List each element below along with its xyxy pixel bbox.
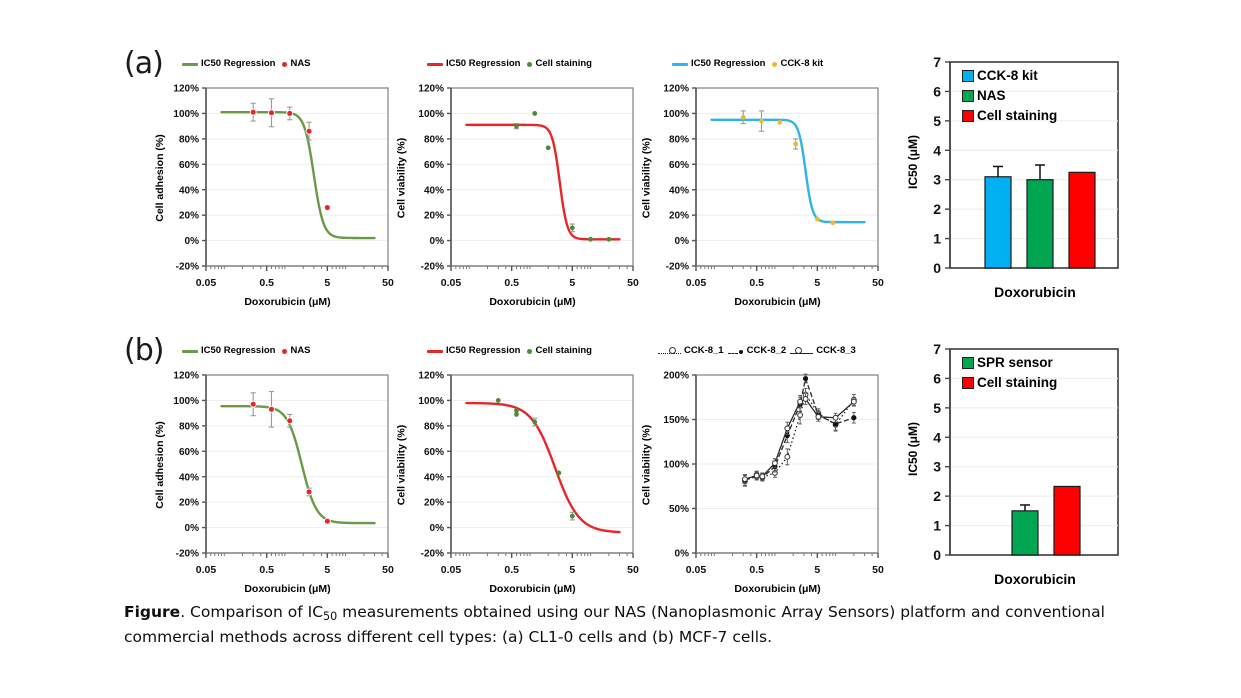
y-tick-label: -20% bbox=[421, 549, 444, 560]
y-tick-label: 6 bbox=[933, 83, 941, 99]
chart-svg: -20%0%20%40%60%80%100%120%0.050.5550 bbox=[160, 64, 410, 296]
y-tick-label: 20% bbox=[179, 211, 199, 222]
x-axis-title: Doxorubicin (μM) bbox=[180, 583, 395, 595]
y-tick-label: 40% bbox=[669, 185, 689, 196]
y-tick-label: 200% bbox=[663, 371, 689, 382]
legend-item[interactable]: NAS bbox=[962, 88, 1057, 103]
y-tick-label: 40% bbox=[179, 185, 199, 196]
y-tick-label: 4 bbox=[933, 142, 941, 158]
data-point bbox=[556, 471, 561, 476]
legend-item[interactable]: SPR sensor bbox=[962, 355, 1057, 370]
y-tick-label: 80% bbox=[669, 134, 689, 145]
y-tick-label: 80% bbox=[424, 134, 444, 145]
data-point bbox=[798, 413, 803, 418]
legend-item[interactable]: Cell staining bbox=[962, 108, 1057, 123]
y-tick-label: -20% bbox=[176, 549, 199, 560]
chart-panel-a2: IC50 RegressionCell stainingCell viabili… bbox=[405, 48, 655, 308]
y-tick-label: 5 bbox=[933, 113, 941, 129]
chart-panel-a3: IC50 RegressionCCK-8 kitCell viability (… bbox=[650, 48, 900, 308]
y-tick-label: -20% bbox=[666, 262, 689, 273]
x-tick-label: 5 bbox=[569, 277, 575, 289]
data-point bbox=[777, 120, 782, 125]
x-axis-title: Doxorubicin (μM) bbox=[425, 296, 640, 308]
bar-cell-staining bbox=[1069, 172, 1095, 268]
data-point bbox=[785, 454, 790, 459]
y-tick-label: 60% bbox=[179, 160, 199, 171]
caption-lead: Figure bbox=[124, 603, 180, 621]
legend-label: NAS bbox=[977, 88, 1006, 103]
x-tick-label: 0.5 bbox=[504, 277, 519, 289]
data-point bbox=[760, 474, 765, 479]
data-point bbox=[851, 415, 856, 420]
x-tick-label: 0.05 bbox=[686, 564, 707, 576]
y-tick-label: 1 bbox=[933, 518, 941, 534]
y-tick-label: 0% bbox=[675, 236, 690, 247]
y-tick-label: 0% bbox=[430, 523, 445, 534]
data-point bbox=[570, 514, 575, 519]
y-tick-label: 100% bbox=[173, 396, 199, 407]
x-tick-label: 50 bbox=[627, 277, 639, 289]
y-tick-label: 4 bbox=[933, 429, 941, 445]
data-point bbox=[287, 418, 293, 424]
x-tick-label: 50 bbox=[627, 564, 639, 576]
y-tick-label: 20% bbox=[424, 211, 444, 222]
panel-label-a: (a) bbox=[124, 46, 163, 81]
x-tick-label: 0.05 bbox=[441, 277, 462, 289]
x-tick-label: 50 bbox=[872, 564, 884, 576]
x-tick-label: 50 bbox=[382, 277, 394, 289]
y-tick-label: 120% bbox=[173, 84, 199, 95]
bar-nas bbox=[1027, 180, 1053, 268]
x-tick-label: 0.05 bbox=[196, 564, 217, 576]
x-tick-label: 0.05 bbox=[441, 564, 462, 576]
y-tick-label: 120% bbox=[663, 84, 689, 95]
data-point bbox=[268, 110, 274, 116]
data-point bbox=[815, 217, 820, 222]
legend-item[interactable]: CCK-8 kit bbox=[962, 68, 1057, 83]
data-point bbox=[306, 489, 312, 495]
y-tick-label: 100% bbox=[418, 109, 444, 120]
x-tick-label: 5 bbox=[324, 277, 330, 289]
data-point bbox=[851, 399, 856, 404]
regression-curve bbox=[466, 125, 619, 239]
data-point bbox=[570, 225, 575, 230]
y-tick-label: 120% bbox=[418, 371, 444, 382]
y-tick-label: 80% bbox=[424, 421, 444, 432]
data-point bbox=[324, 205, 330, 211]
data-point bbox=[785, 426, 790, 431]
legend-color-swatch-icon bbox=[962, 70, 974, 82]
chart-svg: -20%0%20%40%60%80%100%120%0.050.5550 bbox=[160, 351, 410, 583]
data-point bbox=[606, 237, 611, 242]
y-tick-label: 20% bbox=[179, 498, 199, 509]
data-point bbox=[268, 406, 274, 412]
y-tick-label: 7 bbox=[933, 341, 941, 357]
y-tick-label: 50% bbox=[669, 504, 689, 515]
data-point bbox=[830, 220, 835, 225]
x-tick-label: 5 bbox=[569, 564, 575, 576]
legend-label: SPR sensor bbox=[977, 355, 1053, 370]
y-tick-label: 0 bbox=[933, 260, 941, 276]
x-axis-title: Doxorubicin bbox=[940, 284, 1130, 300]
regression-curve bbox=[221, 112, 374, 238]
regression-curve bbox=[466, 403, 619, 532]
bar-cck-8-kit bbox=[985, 177, 1011, 268]
y-tick-label: 60% bbox=[424, 447, 444, 458]
y-tick-label: 5 bbox=[933, 400, 941, 416]
y-tick-label: 100% bbox=[173, 109, 199, 120]
x-tick-label: 0.5 bbox=[749, 564, 764, 576]
data-point bbox=[798, 399, 803, 404]
legend-item[interactable]: Cell staining bbox=[962, 375, 1057, 390]
y-tick-label: 40% bbox=[179, 472, 199, 483]
y-tick-label: 3 bbox=[933, 172, 941, 188]
y-tick-label: -20% bbox=[176, 262, 199, 273]
chart-panel-b4: IC50 (μM)Doxorubicin01234567SPR sensorCe… bbox=[910, 329, 1160, 591]
y-tick-label: 0% bbox=[185, 236, 200, 247]
x-tick-label: 0.5 bbox=[259, 277, 274, 289]
panel-label-b: (b) bbox=[124, 333, 163, 368]
x-axis-title: Doxorubicin (μM) bbox=[670, 296, 885, 308]
y-tick-label: 0% bbox=[675, 549, 690, 560]
data-point bbox=[532, 111, 537, 116]
y-tick-label: 80% bbox=[179, 421, 199, 432]
y-tick-label: 20% bbox=[424, 498, 444, 509]
data-point bbox=[816, 414, 821, 419]
data-point bbox=[496, 398, 501, 403]
x-axis-title: Doxorubicin (μM) bbox=[180, 296, 395, 308]
y-tick-label: 100% bbox=[418, 396, 444, 407]
data-point bbox=[754, 473, 759, 478]
data-point bbox=[546, 145, 551, 150]
data-point bbox=[743, 477, 748, 482]
chart-svg: -20%0%20%40%60%80%100%120%0.050.5550 bbox=[650, 64, 900, 296]
y-tick-label: 40% bbox=[424, 185, 444, 196]
legend-label: CCK-8 kit bbox=[977, 68, 1038, 83]
y-tick-label: 80% bbox=[179, 134, 199, 145]
x-axis-title: Doxorubicin bbox=[940, 571, 1130, 587]
data-point bbox=[287, 110, 293, 116]
data-point bbox=[741, 115, 746, 120]
y-tick-label: -20% bbox=[421, 262, 444, 273]
figure-row-b: (b) IC50 RegressionNASCell adhesion (%)D… bbox=[0, 325, 1241, 595]
chart-panel-a1: IC50 RegressionNASCell adhesion (%)Doxor… bbox=[160, 48, 410, 308]
y-tick-label: 120% bbox=[418, 84, 444, 95]
y-tick-label: 0% bbox=[185, 523, 200, 534]
data-point bbox=[324, 518, 330, 524]
y-tick-label: 2 bbox=[933, 488, 941, 504]
caption-subscript: 50 bbox=[323, 610, 337, 623]
legend-color-swatch-icon bbox=[962, 357, 974, 369]
chart-svg: -20%0%20%40%60%80%100%120%0.050.5550 bbox=[405, 64, 655, 296]
data-point bbox=[803, 376, 808, 381]
x-tick-label: 5 bbox=[814, 277, 820, 289]
data-point bbox=[532, 420, 537, 425]
y-tick-label: 100% bbox=[663, 460, 689, 471]
x-tick-label: 0.5 bbox=[749, 277, 764, 289]
x-tick-label: 50 bbox=[872, 277, 884, 289]
figure-caption: Figure. Comparison of IC50 measurements … bbox=[124, 600, 1124, 649]
data-point bbox=[759, 119, 764, 124]
data-point bbox=[793, 142, 798, 147]
data-point bbox=[306, 128, 312, 134]
y-tick-label: 1 bbox=[933, 231, 941, 247]
chart-panel-b2: IC50 RegressionCell stainingCell viabili… bbox=[405, 335, 655, 595]
y-tick-label: 3 bbox=[933, 459, 941, 475]
y-tick-label: 7 bbox=[933, 54, 941, 70]
data-point bbox=[833, 415, 838, 420]
figure-row-a: (a) IC50 RegressionNASCell adhesion (%)D… bbox=[0, 38, 1241, 308]
legend-color-swatch-icon bbox=[962, 377, 974, 389]
x-axis-title: Doxorubicin (μM) bbox=[670, 583, 885, 595]
x-tick-label: 5 bbox=[324, 564, 330, 576]
data-point bbox=[514, 124, 519, 129]
y-tick-label: 40% bbox=[424, 472, 444, 483]
x-tick-label: 0.05 bbox=[196, 277, 217, 289]
bar-spr-sensor bbox=[1012, 511, 1038, 555]
x-axis-title: Doxorubicin (μM) bbox=[425, 583, 640, 595]
y-tick-label: 60% bbox=[424, 160, 444, 171]
x-tick-label: 5 bbox=[814, 564, 820, 576]
y-tick-label: 0% bbox=[430, 236, 445, 247]
y-tick-label: 120% bbox=[173, 371, 199, 382]
chart-legend: CCK-8 kitNASCell staining bbox=[962, 68, 1057, 123]
regression-curve bbox=[711, 120, 864, 222]
x-tick-label: 50 bbox=[382, 564, 394, 576]
y-tick-label: 6 bbox=[933, 370, 941, 386]
data-point bbox=[803, 397, 808, 402]
data-point bbox=[588, 237, 593, 242]
chart-panel-a4: IC50 (μM)Doxorubicin01234567CCK-8 kitNAS… bbox=[910, 42, 1160, 304]
legend-color-swatch-icon bbox=[962, 90, 974, 102]
chart-panel-b3: CCK-8_1CCK-8_2CCK-8_3Cell viability (%)D… bbox=[650, 335, 900, 595]
y-tick-label: 2 bbox=[933, 201, 941, 217]
y-tick-label: 100% bbox=[663, 109, 689, 120]
x-tick-label: 0.5 bbox=[259, 564, 274, 576]
data-point bbox=[250, 401, 256, 407]
caption-part1: . Comparison of IC bbox=[180, 603, 323, 621]
chart-legend: SPR sensorCell staining bbox=[962, 355, 1057, 390]
bar-cell-staining bbox=[1054, 486, 1080, 555]
data-point bbox=[773, 461, 778, 466]
legend-label: Cell staining bbox=[977, 108, 1057, 123]
regression-curve bbox=[221, 406, 374, 523]
y-tick-label: 150% bbox=[663, 415, 689, 426]
y-tick-label: 0 bbox=[933, 547, 941, 563]
chart-svg: 0%50%100%150%200%0.050.5550 bbox=[650, 351, 900, 583]
y-tick-label: 60% bbox=[669, 160, 689, 171]
chart-panel-b1: IC50 RegressionNASCell adhesion (%)Doxor… bbox=[160, 335, 410, 595]
legend-label: Cell staining bbox=[977, 375, 1057, 390]
y-tick-label: 20% bbox=[669, 211, 689, 222]
chart-svg: -20%0%20%40%60%80%100%120%0.050.5550 bbox=[405, 351, 655, 583]
data-point bbox=[514, 412, 519, 417]
figure-root: (a) IC50 RegressionNASCell adhesion (%)D… bbox=[0, 0, 1241, 698]
series-line-CCK-8_2 bbox=[745, 379, 854, 480]
x-tick-label: 0.05 bbox=[686, 277, 707, 289]
x-tick-label: 0.5 bbox=[504, 564, 519, 576]
y-tick-label: 60% bbox=[179, 447, 199, 458]
legend-color-swatch-icon bbox=[962, 110, 974, 122]
data-point bbox=[250, 109, 256, 115]
